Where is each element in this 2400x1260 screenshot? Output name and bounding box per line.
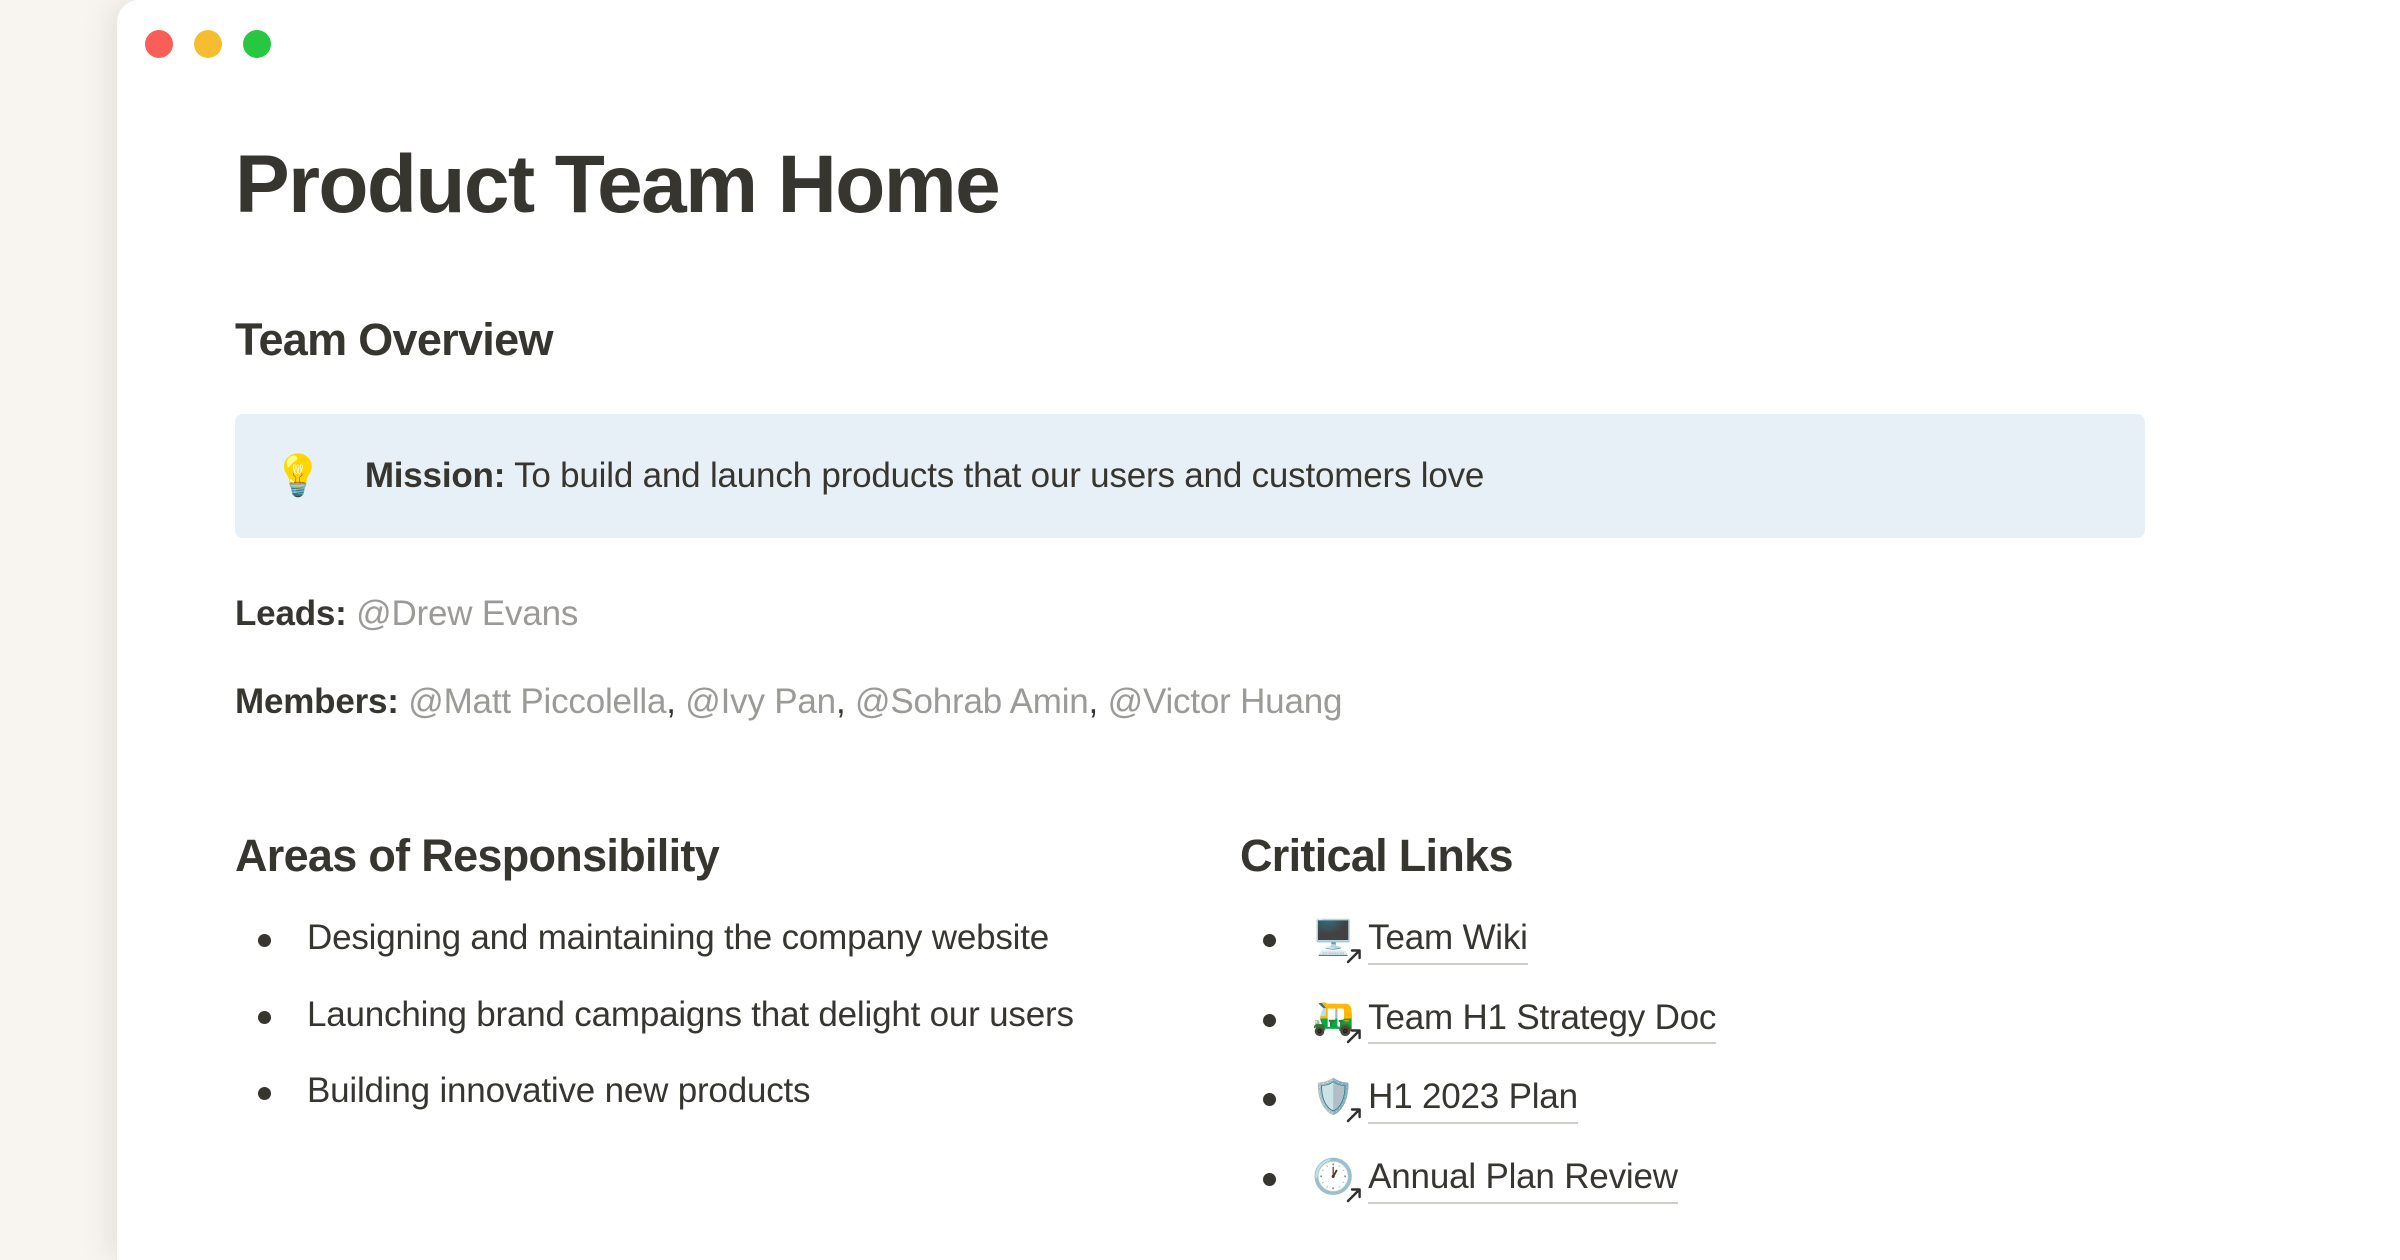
comma-separator: , — [836, 682, 855, 721]
comma-separator: , — [666, 682, 685, 721]
link-team-h1-strategy-doc[interactable]: Team H1 Strategy Doc — [1368, 997, 1716, 1045]
leads-label: Leads: — [235, 594, 347, 633]
external-link-arrow-icon — [1344, 946, 1364, 966]
close-button[interactable] — [145, 30, 173, 58]
maximize-button[interactable] — [243, 30, 271, 58]
mention-sohrab-amin[interactable]: @Sohrab Amin — [855, 682, 1089, 721]
link-row-h1-2023-plan[interactable]: 🛡️ H1 2023 Plan — [1312, 1076, 1578, 1124]
desktop-computer-icon: 🖥️ — [1312, 921, 1354, 955]
mention-victor-huang[interactable]: @Victor Huang — [1108, 682, 1343, 721]
external-link-arrow-icon — [1344, 1105, 1364, 1125]
heading-team-overview[interactable]: Team Overview — [235, 313, 2282, 367]
mention-ivy-pan[interactable]: @Ivy Pan — [685, 682, 836, 721]
list-item[interactable]: Building innovative new products — [235, 1070, 1107, 1113]
link-row-team-h1-strategy-doc[interactable]: 🛺 Team H1 Strategy Doc — [1312, 997, 1716, 1045]
link-row-annual-plan-review[interactable]: 🕐 Annual Plan Review — [1312, 1156, 1678, 1204]
page-title[interactable]: Product Team Home — [235, 92, 2282, 229]
document-body: Product Team Home Team Overview 💡 Missio… — [117, 92, 2400, 1236]
mission-callout[interactable]: 💡 Mission: To build and launch products … — [235, 414, 2145, 538]
leads-line: Leads: @Drew Evans — [235, 593, 2282, 635]
link-row-team-wiki[interactable]: 🖥️ Team Wiki — [1312, 917, 1528, 965]
list-item: 🛺 Team H1 Strategy Doc — [1240, 997, 2245, 1045]
mention-matt-piccolella[interactable]: @Matt Piccolella — [408, 682, 666, 721]
list-item[interactable]: Launching brand campaigns that delight o… — [235, 994, 1107, 1037]
link-team-wiki[interactable]: Team Wiki — [1368, 917, 1528, 965]
minimize-button[interactable] — [194, 30, 222, 58]
responsibility-list: Designing and maintaining the company we… — [235, 917, 1240, 1113]
app-window: Product Team Home Team Overview 💡 Missio… — [117, 0, 2400, 1260]
list-item: 🕐 Annual Plan Review — [1240, 1156, 2245, 1204]
mission-label: Mission: — [365, 456, 505, 495]
list-item: 🛡️ H1 2023 Plan — [1240, 1076, 2245, 1124]
lightbulb-icon: 💡 — [273, 448, 323, 504]
two-column-section: Areas of Responsibility Designing and ma… — [235, 829, 2282, 1236]
column-areas-of-responsibility: Areas of Responsibility Designing and ma… — [235, 829, 1240, 1236]
clock-icon: 🕐 — [1312, 1160, 1354, 1194]
heading-critical-links[interactable]: Critical Links — [1240, 829, 2245, 883]
shield-icon: 🛡️ — [1312, 1080, 1354, 1114]
heading-areas-of-responsibility[interactable]: Areas of Responsibility — [235, 829, 1240, 883]
external-link-arrow-icon — [1344, 1185, 1364, 1205]
auto-rickshaw-icon: 🛺 — [1312, 1001, 1354, 1035]
window-controls — [145, 30, 271, 58]
mission-text: To build and launch products that our us… — [505, 456, 1484, 495]
list-item[interactable]: Designing and maintaining the company we… — [235, 917, 1107, 960]
comma-separator: , — [1089, 682, 1108, 721]
external-link-arrow-icon — [1344, 1026, 1364, 1046]
window-titlebar[interactable] — [117, 0, 2400, 92]
column-critical-links: Critical Links 🖥️ Team Wiki — [1240, 829, 2245, 1236]
members-line: Members: @Matt Piccolella, @Ivy Pan, @So… — [235, 681, 2282, 723]
mention-drew-evans[interactable]: @Drew Evans — [356, 594, 578, 633]
link-annual-plan-review[interactable]: Annual Plan Review — [1368, 1156, 1678, 1204]
link-h1-2023-plan[interactable]: H1 2023 Plan — [1368, 1076, 1578, 1124]
members-label: Members: — [235, 682, 399, 721]
mission-callout-text: Mission: To build and launch products th… — [365, 448, 1484, 504]
critical-links-list: 🖥️ Team Wiki 🛺 — [1240, 917, 2245, 1204]
list-item: 🖥️ Team Wiki — [1240, 917, 2245, 965]
